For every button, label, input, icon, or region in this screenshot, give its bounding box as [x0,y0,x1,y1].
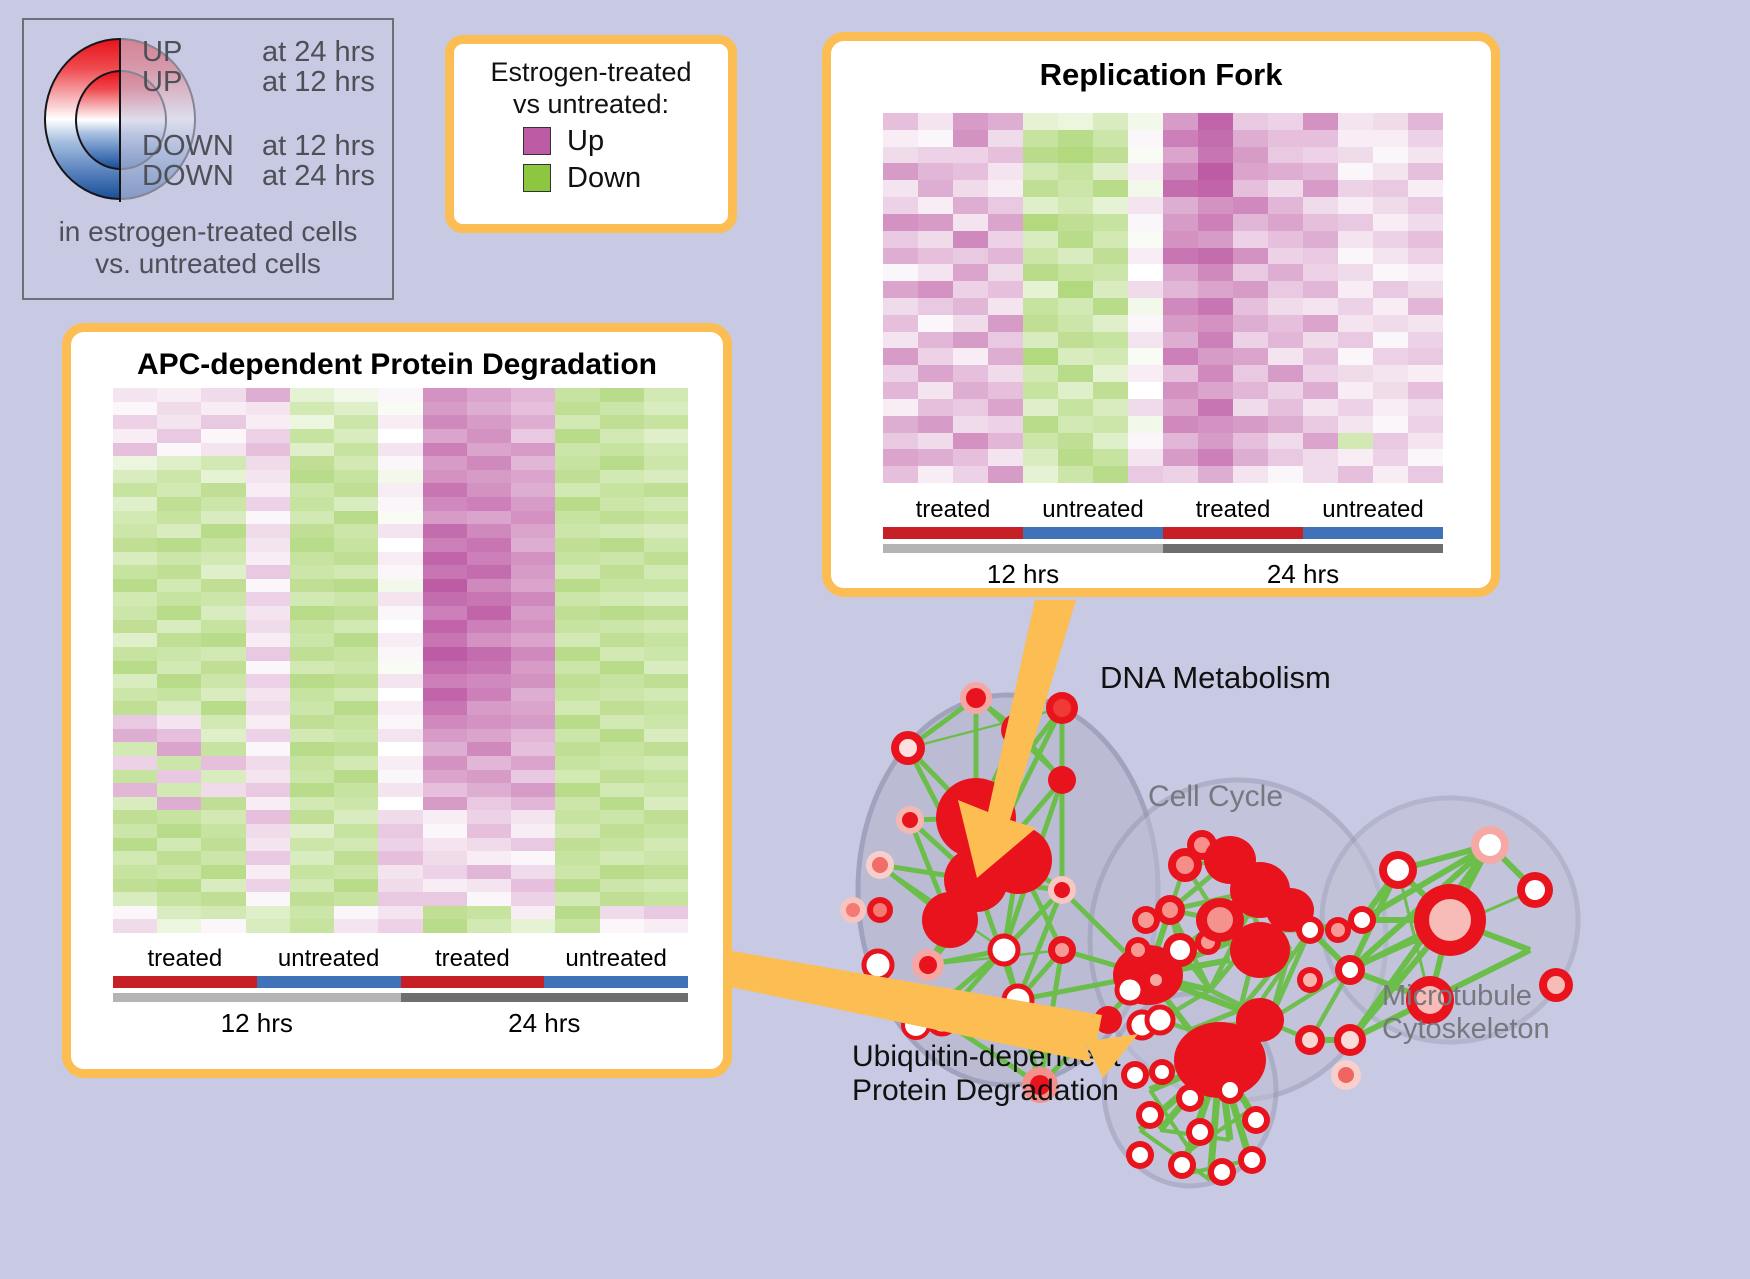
heatmap-cell [555,770,599,784]
heatmap-cell [555,402,599,416]
heatmap-cell [953,449,988,466]
heatmap-cell [1373,180,1408,197]
colorbar-key-down24: DOWN [142,162,262,192]
heatmap-cell [918,231,953,248]
heatmap-cell [1373,298,1408,315]
heatmap-cell [1408,416,1443,433]
heatmap-cell [201,443,245,457]
heatmap-cell [1233,180,1268,197]
heatmap-cell [1233,348,1268,365]
heatmap-cell [918,163,953,180]
heatmap-cell [1268,163,1303,180]
apc-axis: treated untreated treated untreated 12 h… [113,945,688,1039]
heatmap-cell [378,824,422,838]
apc-group-label-1: untreated [257,945,401,973]
heatmap-cell [290,906,334,920]
heatmap-cell [1128,113,1163,130]
heatmap-cell [467,524,511,538]
heatmap-cell [1373,197,1408,214]
heatmap-cell [467,715,511,729]
heatmap-cell [201,892,245,906]
heatmap-cell [1023,298,1058,315]
apc-time-label-24: 24 hrs [401,1008,689,1039]
heatmap-cell [246,742,290,756]
heatmap-cell [953,231,988,248]
heatmap-cell [1058,365,1093,382]
rf-group-label-0: treated [883,496,1023,524]
heatmap-cell [423,906,467,920]
heatmap-cell [1198,332,1233,349]
heatmap-cell [1373,466,1408,483]
heatmap-cell [1058,449,1093,466]
cluster-label-microtubule-line2: Cytoskeleton [1382,1013,1550,1046]
heatmap-cell [1023,180,1058,197]
heatmap-cell [511,579,555,593]
heatmap-cell [378,797,422,811]
heatmap-cell [953,382,988,399]
heatmap-cell [467,906,511,920]
heatmap-cell [423,579,467,593]
colorbar-row-down24: DOWN at 24 hrs [142,162,392,192]
heatmap-cell [600,810,644,824]
heatmap-cell [246,810,290,824]
heatmap-cell [953,433,988,450]
heatmap-cell [1128,416,1163,433]
heatmap-cell [157,661,201,675]
heatmap-cell [1093,163,1128,180]
heatmap-cell [555,851,599,865]
heatmap-cell [157,742,201,756]
heatmap-cell [600,783,644,797]
heatmap-cell [644,429,688,443]
heatmap-cell [378,770,422,784]
heatmap-cell [157,388,201,402]
heatmap-cell [555,443,599,457]
heatmap-cell [157,470,201,484]
heatmap-cell [1303,315,1338,332]
heatmap-cell [1303,264,1338,281]
heatmap-cell [334,770,378,784]
heatmap-cell [113,838,157,852]
heatmap-cell [201,402,245,416]
heatmap-cell [378,388,422,402]
heatmap-cell [290,592,334,606]
heatmap-cell [423,620,467,634]
heatmap-cell [511,892,555,906]
heatmap-cell [1023,332,1058,349]
treatment-bar-segment [401,976,545,988]
heatmap-cell [644,810,688,824]
treatment-bar-segment [1163,527,1303,539]
heatmap-cell [467,701,511,715]
heatmap-cell [423,810,467,824]
heatmap-cell [467,443,511,457]
heatmap-cell [113,524,157,538]
heatmap-cell [334,892,378,906]
heatmap-cell [918,298,953,315]
heatmap-cell [644,579,688,593]
heatmap-cell [511,906,555,920]
heatmap-cell [290,756,334,770]
heatmap-cell [467,783,511,797]
heatmap-cell [644,865,688,879]
heatmap-cell [600,797,644,811]
heatmap-cell [423,402,467,416]
heatmap-cell [1163,281,1198,298]
heatmap-cell [157,415,201,429]
heatmap-cell [918,214,953,231]
heatmap-cell [1128,147,1163,164]
heatmap-cell [1023,433,1058,450]
heatmap-cell [334,824,378,838]
heatmap-cell [1163,298,1198,315]
heatmap-cell [555,470,599,484]
heatmap-cell [290,388,334,402]
heatmap-cell [1198,348,1233,365]
heatmap-cell [246,388,290,402]
heatmap-cell [1023,163,1058,180]
treatment-bar-segment [1303,527,1443,539]
heatmap-cell [555,483,599,497]
heatmap-cell [1268,113,1303,130]
heatmap-cell [201,579,245,593]
heatmap-cell [511,838,555,852]
heatmap-cell [644,715,688,729]
heatmap-cell [511,919,555,933]
heatmap-cell [378,742,422,756]
time-bar-segment [1163,544,1443,553]
heatmap-cell [246,838,290,852]
heatmap-cell [1023,315,1058,332]
heatmap-cell [511,415,555,429]
heatmap-cell [113,470,157,484]
rf-treatment-bar [883,527,1443,539]
heatmap-cell [290,443,334,457]
heatmap-cell [246,592,290,606]
heatmap-cell [1128,264,1163,281]
heatmap-cell [334,851,378,865]
swatch-up-icon [523,127,551,155]
heatmap-cell [918,197,953,214]
heatmap-cell [290,524,334,538]
heatmap-cell [246,511,290,525]
apc-time-labels: 12 hrs 24 hrs [113,1008,688,1039]
heatmap-cell [1408,399,1443,416]
heatmap-cell [883,416,918,433]
colorbar-footer-line1: in estrogen-treated cells [24,216,392,248]
heatmap-cell [1233,365,1268,382]
heatmap-cell [246,756,290,770]
heatmap-cell [246,879,290,893]
heatmap-cell [1128,382,1163,399]
replication-fork-axis: treated untreated treated untreated 12 h… [883,496,1443,590]
heatmap-cell [555,579,599,593]
heatmap-cell [157,483,201,497]
heatmap-cell [1408,348,1443,365]
heatmap-cell [1058,416,1093,433]
heatmap-cell [334,783,378,797]
heatmap-cell [423,497,467,511]
heatmap-cell [555,892,599,906]
heatmap-cell [1233,399,1268,416]
heatmap-cell [467,838,511,852]
heatmap-cell [555,810,599,824]
heatmap-cell [555,497,599,511]
heatmap-cell [378,810,422,824]
heatmap-cell [1303,348,1338,365]
heatmap-cell [1023,449,1058,466]
heatmap-cell [511,756,555,770]
heatmap-cell [1268,399,1303,416]
heatmap-cell [1198,214,1233,231]
heatmap-cell [290,511,334,525]
heatmap-cell [467,661,511,675]
heatmap-cell [334,511,378,525]
heatmap-cell [246,402,290,416]
heatmap-cell [600,483,644,497]
heatmap-cell [113,483,157,497]
treatment-bar-segment [113,976,257,988]
heatmap-cell [378,865,422,879]
heatmap-cell [883,113,918,130]
heatmap-cell [378,443,422,457]
heatmap-cell [1058,348,1093,365]
heatmap-cell [1408,113,1443,130]
heatmap-cell [644,729,688,743]
heatmap-cell [600,497,644,511]
heatmap-cell [1093,214,1128,231]
heatmap-cell [246,456,290,470]
heatmap-cell [988,180,1023,197]
estrogen-legend-title-line2: vs untreated: [454,89,728,121]
heatmap-cell [1198,231,1233,248]
heatmap-cell [644,402,688,416]
heatmap-cell [113,919,157,933]
heatmap-cell [1198,197,1233,214]
heatmap-cell [1338,281,1373,298]
heatmap-cell [157,701,201,715]
panel-replication-fork: Replication Fork treated untreated treat… [822,32,1500,597]
heatmap-cell [1198,399,1233,416]
heatmap-cell [883,332,918,349]
heatmap-cell [113,756,157,770]
heatmap-cell [1023,147,1058,164]
heatmap-cell [1338,231,1373,248]
heatmap-cell [467,456,511,470]
heatmap-cell [1093,130,1128,147]
heatmap-cell [1373,231,1408,248]
heatmap-cell [600,824,644,838]
heatmap-cell [953,416,988,433]
heatmap-cell [918,449,953,466]
heatmap-cell [467,388,511,402]
heatmap-cell [1408,147,1443,164]
heatmap-cell [157,770,201,784]
heatmap-cell [334,674,378,688]
heatmap-cell [1303,147,1338,164]
heatmap-cell [1163,466,1198,483]
heatmap-cell [1303,416,1338,433]
heatmap-cell [290,415,334,429]
heatmap-cell [1233,231,1268,248]
heatmap-cell [1128,130,1163,147]
heatmap-cell [1303,281,1338,298]
heatmap-cell [555,879,599,893]
heatmap-cell [883,197,918,214]
heatmap-cell [423,742,467,756]
heatmap-cell [644,497,688,511]
heatmap-cell [1093,449,1128,466]
heatmap-cell [201,661,245,675]
heatmap-cell [290,742,334,756]
heatmap-cell [423,674,467,688]
heatmap-cell [290,824,334,838]
heatmap-cell [201,606,245,620]
heatmap-cell [1268,130,1303,147]
treatment-bar-segment [257,976,401,988]
heatmap-cell [1233,130,1268,147]
heatmap-cell [423,701,467,715]
heatmap-cell [113,388,157,402]
treatment-bar-segment [1023,527,1163,539]
treatment-bar-segment [883,527,1023,539]
heatmap-cell [1128,315,1163,332]
estrogen-legend-card: Estrogen-treated vs untreated: Up Down [445,35,737,233]
heatmap-cell [1408,281,1443,298]
heatmap-cell [555,919,599,933]
heatmap-cell [1163,248,1198,265]
heatmap-cell [378,620,422,634]
heatmap-cell [113,701,157,715]
heatmap-cell [113,620,157,634]
heatmap-cell [511,511,555,525]
heatmap-cell [600,552,644,566]
heatmap-cell [201,565,245,579]
heatmap-cell [157,592,201,606]
heatmap-cell [600,674,644,688]
heatmap-cell [378,592,422,606]
heatmap-cell [988,163,1023,180]
heatmap-cell [1373,348,1408,365]
heatmap-cell [1338,113,1373,130]
heatmap-cell [378,497,422,511]
heatmap-cell [201,633,245,647]
heatmap-cell [1338,382,1373,399]
colorbar-val-down12: at 12 hrs [262,132,375,162]
estrogen-legend-label-up: Up [567,125,659,158]
heatmap-cell [988,399,1023,416]
heatmap-cell [1058,382,1093,399]
heatmap-cell [1163,332,1198,349]
heatmap-cell [1303,399,1338,416]
heatmap-cell [918,113,953,130]
heatmap-cell [1128,214,1163,231]
heatmap-cell [201,524,245,538]
heatmap-cell [157,633,201,647]
heatmap-cell [467,592,511,606]
heatmap-cell [953,113,988,130]
heatmap-cell [157,838,201,852]
time-bar-segment [113,993,401,1002]
heatmap-cell [378,838,422,852]
heatmap-cell [290,688,334,702]
heatmap-cell [113,402,157,416]
colorbar-legend-panel: UP at 24 hrs UP at 12 hrs DOWN at 12 hrs… [22,18,394,300]
heatmap-cell [953,298,988,315]
heatmap-cell [334,742,378,756]
heatmap-cell [918,281,953,298]
heatmap-cell [918,130,953,147]
heatmap-cell [988,298,1023,315]
heatmap-cell [1093,281,1128,298]
heatmap-cell [1268,180,1303,197]
heatmap-cell [883,130,918,147]
heatmap-cell [290,865,334,879]
heatmap-cell [378,565,422,579]
heatmap-cell [918,348,953,365]
heatmap-cell [555,688,599,702]
rf-time-label-24: 24 hrs [1163,559,1443,590]
heatmap-cell [600,470,644,484]
heatmap-cell [1023,399,1058,416]
heatmap-cell [1023,264,1058,281]
heatmap-cell [467,633,511,647]
heatmap-cell [1058,130,1093,147]
heatmap-cell [1303,382,1338,399]
heatmap-cell [1338,416,1373,433]
heatmap-cell [467,483,511,497]
heatmap-cell [555,756,599,770]
heatmap-cell [1198,281,1233,298]
heatmap-cell [334,879,378,893]
heatmap-cell [1093,382,1128,399]
heatmap-cell [423,892,467,906]
estrogen-legend-label-down: Down [567,162,659,195]
heatmap-cell [201,538,245,552]
heatmap-cell [201,701,245,715]
heatmap-cell [644,456,688,470]
heatmap-cell [290,701,334,715]
heatmap-cell [1058,264,1093,281]
heatmap-cell [1128,399,1163,416]
heatmap-cell [423,388,467,402]
heatmap-cell [1233,332,1268,349]
heatmap-cell [555,552,599,566]
heatmap-cell [334,497,378,511]
heatmap-cell [953,365,988,382]
heatmap-cell [918,332,953,349]
heatmap-cell [1338,399,1373,416]
treatment-bar-segment [544,976,688,988]
heatmap-cell [555,742,599,756]
heatmap-cell [644,647,688,661]
heatmap-cell [600,606,644,620]
heatmap-cell [113,456,157,470]
heatmap-cell [201,688,245,702]
heatmap-cell [113,810,157,824]
colorbar-footer: in estrogen-treated cells vs. untreated … [24,216,392,281]
heatmap-cell [290,810,334,824]
heatmap-cell [157,824,201,838]
heatmap-cell [988,248,1023,265]
apc-treatment-bar [113,976,688,988]
heatmap-cell [953,264,988,281]
heatmap-cell [246,701,290,715]
heatmap-cell [1023,348,1058,365]
heatmap-cell [113,415,157,429]
heatmap-cell [511,633,555,647]
apc-group-label-3: untreated [544,945,688,973]
